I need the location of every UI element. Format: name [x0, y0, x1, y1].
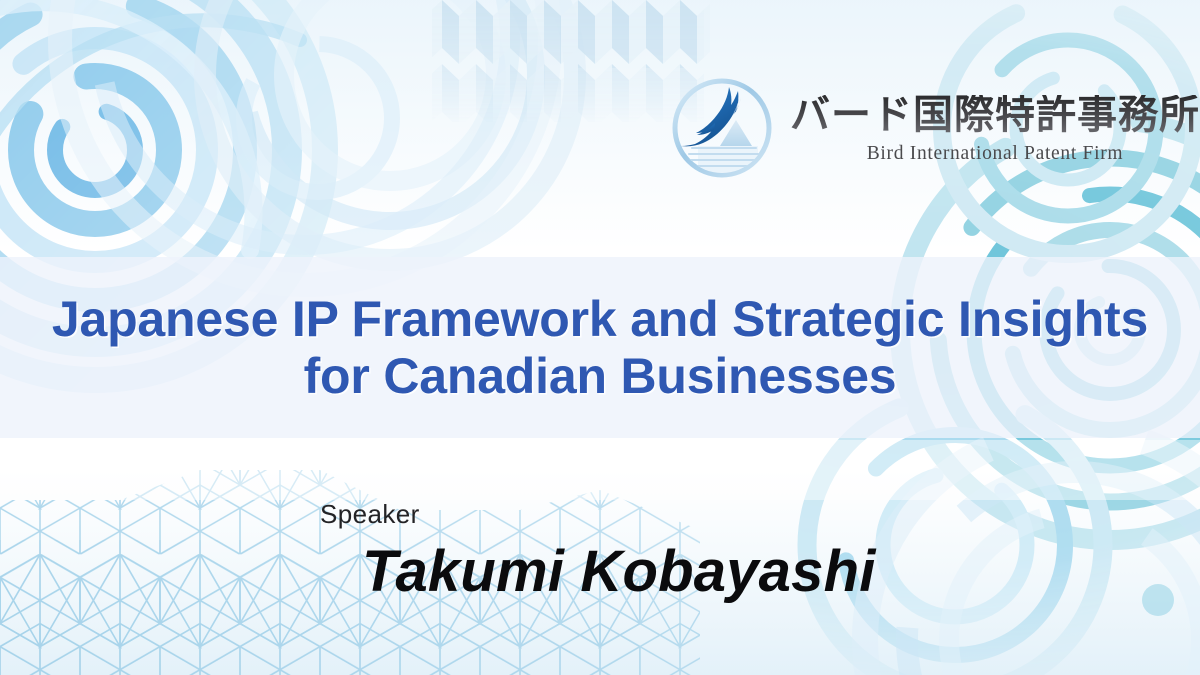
logo-name-japanese: バード国際特許事務所 — [790, 95, 1200, 136]
title-line-2: for Canadian Businesses — [304, 348, 897, 405]
title-slide: バード国際特許事務所 Bird International Patent Fir… — [0, 0, 1200, 675]
logo-name-english: Bird International Patent Firm — [867, 143, 1124, 164]
page-title: Japanese IP Framework and Strategic Insi… — [0, 257, 1200, 438]
speaker-name: Takumi Kobayashi — [362, 538, 876, 605]
bird-in-circle-logo-mark — [668, 74, 776, 182]
logo-wordmark: バード国際特許事務所 Bird International Patent Fir… — [790, 91, 1200, 164]
company-logo: バード国際特許事務所 Bird International Patent Fir… — [668, 74, 1200, 182]
speaker-label: Speaker — [320, 499, 420, 530]
title-line-1: Japanese IP Framework and Strategic Insi… — [52, 291, 1148, 348]
